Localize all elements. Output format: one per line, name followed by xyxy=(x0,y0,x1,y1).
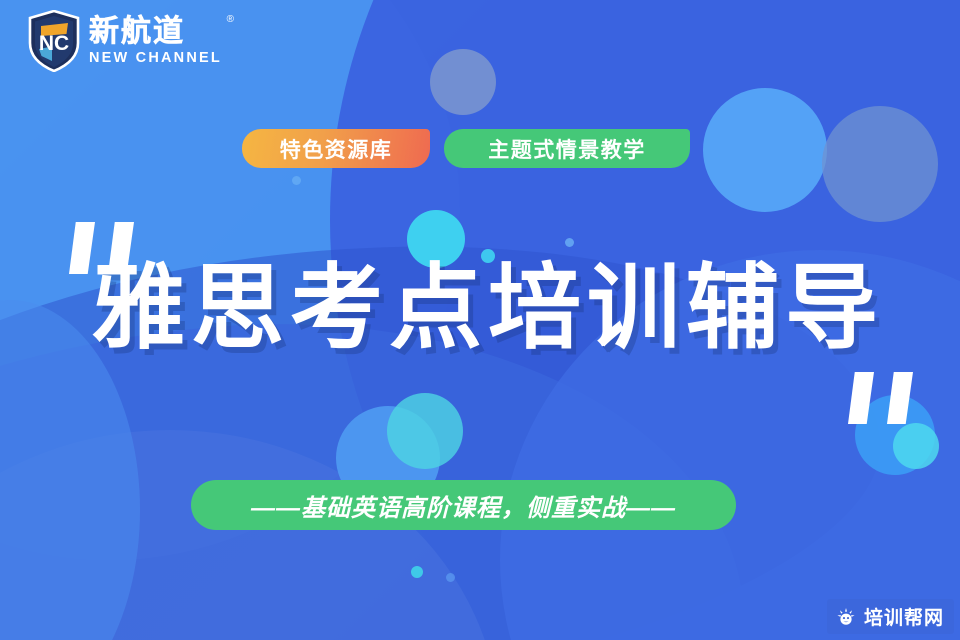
brand-name-cn-text: 新航道 xyxy=(89,15,185,48)
quote-stroke-right xyxy=(887,372,913,424)
decorative-circle-cyan-lower-right xyxy=(893,423,939,469)
watermark: 培训帮网 xyxy=(827,599,954,634)
watermark-text: 培训帮网 xyxy=(864,603,944,630)
tag-badge-resource-library[interactable]: 特色资源库 xyxy=(242,129,430,168)
nc-shield-icon: NC xyxy=(28,10,80,72)
decorative-dot-blue xyxy=(565,238,574,247)
decorative-dot-blue-bottom xyxy=(446,573,455,582)
decorative-dot-blue-upper xyxy=(292,176,301,185)
quote-mark-close-icon xyxy=(848,372,913,424)
tag-badge-group: 特色资源库 主题式情景教学 xyxy=(242,129,690,168)
promo-banner: NC 新航道® NEW CHANNEL 特色资源库 主题式情景教学 雅思考点培训… xyxy=(0,0,960,640)
decorative-dot-cyan-bottom xyxy=(411,566,423,578)
decorative-circle-gray-top xyxy=(430,49,496,115)
registered-mark: ® xyxy=(227,15,234,25)
tag-badge-thematic-teaching[interactable]: 主题式情景教学 xyxy=(444,129,690,168)
headline-title: 雅思考点培训辅导 xyxy=(92,262,884,355)
decorative-circle-blue-large xyxy=(703,88,827,212)
decorative-circle-cyan-bottom-left xyxy=(387,393,463,469)
brand-logo[interactable]: NC 新航道® NEW CHANNEL xyxy=(28,10,222,72)
quote-stroke-left xyxy=(848,372,874,424)
brand-name-en: NEW CHANNEL xyxy=(89,51,222,66)
brand-wordmark: 新航道® NEW CHANNEL xyxy=(89,17,222,66)
subtitle-text: ——基础英语高阶课程，侧重实战—— xyxy=(251,488,676,523)
svg-text:NC: NC xyxy=(39,32,69,55)
sun-face-icon xyxy=(835,606,857,628)
subtitle-pill: ——基础英语高阶课程，侧重实战—— xyxy=(191,480,736,530)
decorative-circle-gray-large xyxy=(822,106,938,222)
brand-name-cn: 新航道® xyxy=(89,17,222,47)
